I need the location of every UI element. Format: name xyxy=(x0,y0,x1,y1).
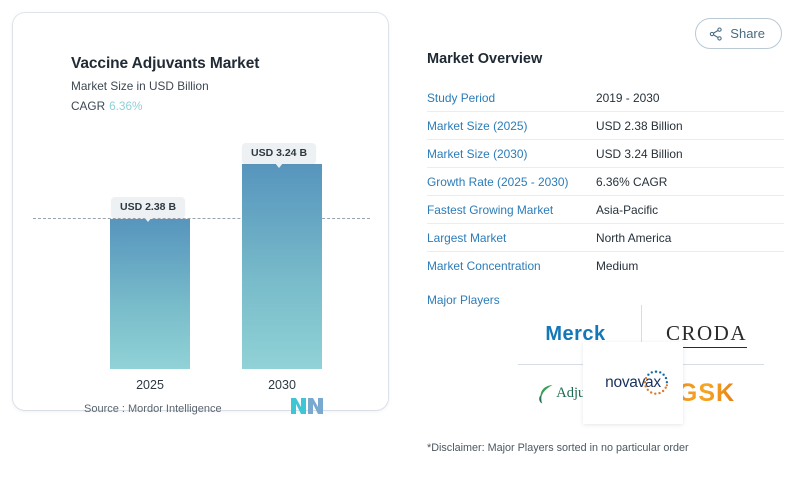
bar-2025[interactable] xyxy=(110,219,190,369)
table-row: Market Concentration Medium xyxy=(427,252,784,280)
player-cell-novavax[interactable]: novavax xyxy=(583,342,683,424)
table-row: Fastest Growing Market Asia-Pacific xyxy=(427,196,784,224)
row-value: 2019 - 2030 xyxy=(596,91,659,105)
row-key: Growth Rate (2025 - 2030) xyxy=(427,175,596,189)
row-value: Medium xyxy=(596,259,638,273)
x-tick-2030: 2030 xyxy=(242,378,322,392)
gsk-logo: GSK xyxy=(678,379,735,408)
source-text: Source : Mordor Intelligence xyxy=(84,403,222,415)
bar-2030[interactable] xyxy=(242,164,322,369)
share-button-label: Share xyxy=(730,26,765,41)
novavax-logo: novavax xyxy=(605,374,661,392)
row-value: Asia-Pacific xyxy=(596,203,658,217)
row-key: Largest Market xyxy=(427,231,596,245)
novavax-ring-icon xyxy=(643,370,669,396)
share-button[interactable]: Share xyxy=(695,18,782,49)
row-key: Fastest Growing Market xyxy=(427,203,596,217)
disclaimer-text: *Disclaimer: Major Players sorted in no … xyxy=(427,442,689,454)
major-players-label: Major Players xyxy=(427,293,500,307)
mordor-intelligence-logo xyxy=(291,395,325,417)
row-value: North America xyxy=(596,231,671,245)
chart-card: Vaccine Adjuvants Market Market Size in … xyxy=(13,13,388,410)
leaf-swoosh-icon xyxy=(538,383,555,404)
table-row: Market Size (2030) USD 3.24 Billion xyxy=(427,140,784,168)
row-key: Study Period xyxy=(427,91,596,105)
share-icon xyxy=(709,27,723,41)
report-snapshot: Vaccine Adjuvants Market Market Size in … xyxy=(0,0,800,482)
row-key: Market Concentration xyxy=(427,259,596,273)
bar-label-2030: USD 3.24 B xyxy=(242,143,316,164)
table-row: Growth Rate (2025 - 2030) 6.36% CAGR xyxy=(427,168,784,196)
market-overview-table: Study Period 2019 - 2030 Market Size (20… xyxy=(427,84,784,280)
row-value: USD 3.24 Billion xyxy=(596,147,683,161)
table-row: Study Period 2019 - 2030 xyxy=(427,84,784,112)
row-key: Market Size (2025) xyxy=(427,119,596,133)
table-row: Market Size (2025) USD 2.38 Billion xyxy=(427,112,784,140)
bar-chart-plot: USD 2.38 B USD 3.24 B 2025 2030 Source :… xyxy=(13,13,388,410)
bar-label-2025: USD 2.38 B xyxy=(111,197,185,218)
market-overview-title: Market Overview xyxy=(427,51,542,67)
row-value: USD 2.38 Billion xyxy=(596,119,683,133)
row-value: 6.36% CAGR xyxy=(596,175,667,189)
x-tick-2025: 2025 xyxy=(110,378,190,392)
row-key: Market Size (2030) xyxy=(427,147,596,161)
table-row: Largest Market North America xyxy=(427,224,784,252)
